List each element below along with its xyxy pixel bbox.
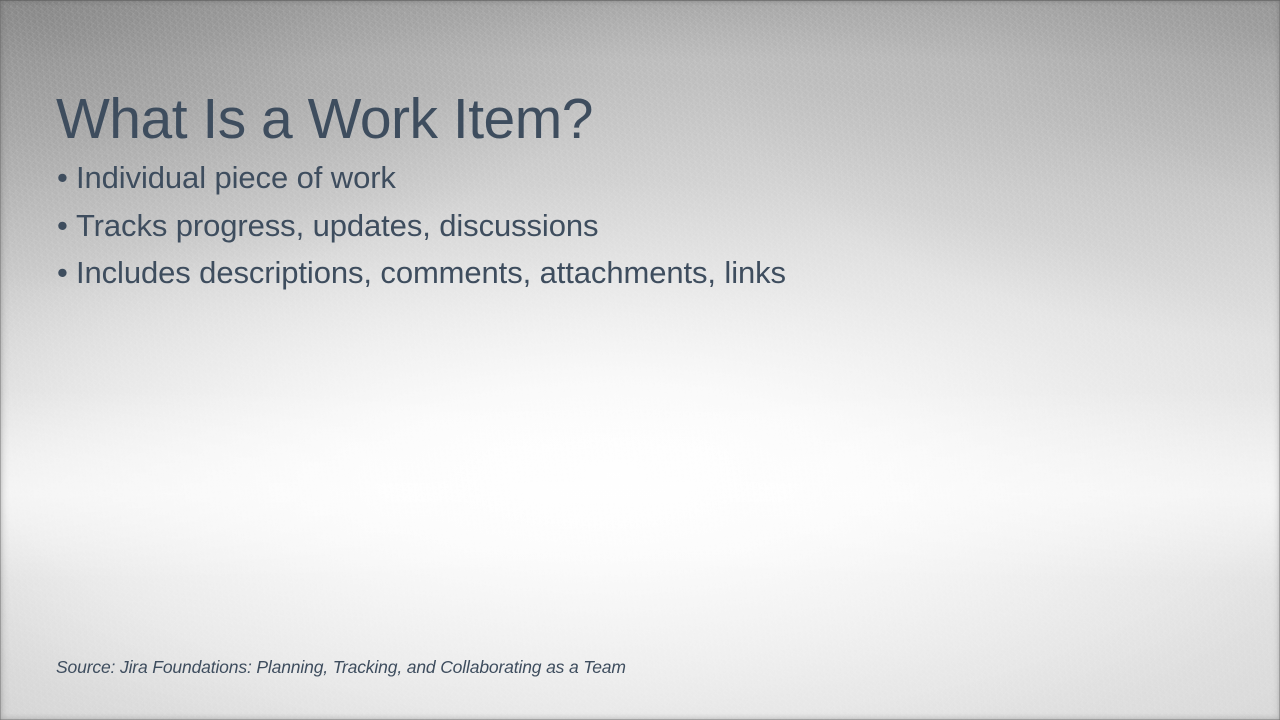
list-item-label: Individual piece of work [76,154,396,202]
list-item: • Individual piece of work [57,154,786,202]
bullet-dot-icon: • [57,154,76,202]
presentation-slide: What Is a Work Item? • Individual piece … [0,0,1280,720]
page-title: What Is a Work Item? [56,88,593,152]
list-item: • Tracks progress, updates, discussions [57,202,786,250]
list-item: • Includes descriptions, comments, attac… [57,249,786,297]
source-attribution: Source: Jira Foundations: Planning, Trac… [56,657,626,678]
bullet-dot-icon: • [57,202,76,250]
bullet-dot-icon: • [57,249,76,297]
slide-content: What Is a Work Item? • Individual piece … [0,0,1280,720]
list-item-label: Tracks progress, updates, discussions [76,202,598,250]
list-item-label: Includes descriptions, comments, attachm… [76,249,786,297]
bullet-list: • Individual piece of work • Tracks prog… [57,154,786,297]
